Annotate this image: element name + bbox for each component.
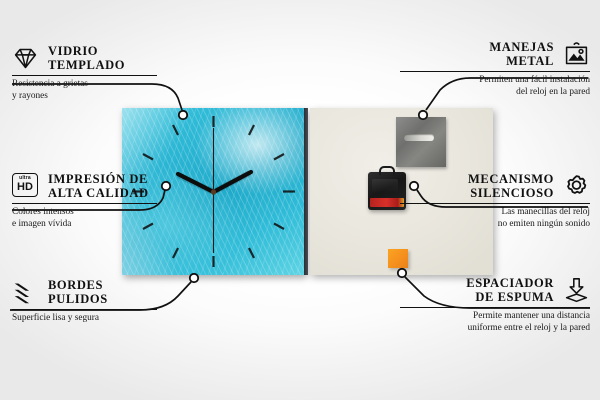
feature-desc-line1: Superficie lisa y segura	[12, 313, 222, 324]
feature-desc-line2: e imagen vívida	[12, 219, 222, 230]
wall-frame-hook-icon	[563, 41, 590, 68]
hd-main-label: HD	[17, 182, 33, 193]
feature-title: VIDRIO TEMPLADO	[48, 44, 125, 72]
feature-header: MANEJAS METAL	[378, 40, 590, 68]
feature-desc-line1: Colores intensos	[12, 207, 222, 218]
polished-edge-icon	[12, 279, 39, 306]
feature-header: BORDES PULIDOS	[12, 278, 222, 306]
feature-espaciador-espuma: ESPACIADOR DE ESPUMA Permite mantener un…	[378, 276, 590, 334]
feature-title: BORDES PULIDOS	[48, 278, 108, 306]
feature-divider	[12, 309, 157, 310]
feature-desc-line1: Permiten una fácil instalación	[378, 75, 590, 86]
feature-bordes-pulidos: BORDES PULIDOS Superficie lisa y segura	[12, 278, 222, 325]
metal-hanger-plate	[396, 117, 446, 167]
feature-title: MANEJAS METAL	[489, 40, 554, 68]
feature-title: ESPACIADOR DE ESPUMA	[466, 276, 554, 304]
feature-desc-line1: Resistencia a grietas	[12, 79, 222, 90]
foam-spacer-pad	[388, 249, 408, 268]
feature-title: IMPRESIÓN DE ALTA CALIDAD	[48, 172, 149, 200]
feature-divider	[12, 203, 157, 204]
feature-divider	[400, 203, 590, 204]
feature-header: ultra HD IMPRESIÓN DE ALTA CALIDAD	[12, 172, 222, 200]
feature-desc-line1: Las manecillas del reloj	[378, 207, 590, 218]
gear-icon	[563, 173, 590, 200]
hanger-slot	[404, 134, 434, 141]
feature-divider	[400, 71, 590, 72]
feature-manejas-metal: MANEJAS METAL Permiten una fácil instala…	[378, 40, 590, 98]
feature-divider	[12, 75, 157, 76]
ultra-hd-icon: ultra HD	[12, 173, 39, 200]
foam-spacer-arrow-icon	[563, 277, 590, 304]
feature-vidrio-templado: VIDRIO TEMPLADO Resistencia a grietas y …	[12, 44, 222, 102]
feature-header: MECANISMO SILENCIOSO	[378, 172, 590, 200]
feature-desc-line2: del reloj en la pared	[378, 87, 590, 98]
infographic-canvas: VIDRIO TEMPLADO Resistencia a grietas y …	[0, 0, 600, 400]
feature-header: ESPACIADOR DE ESPUMA	[378, 276, 590, 304]
feature-impresion-alta-calidad: ultra HD IMPRESIÓN DE ALTA CALIDAD Color…	[12, 172, 222, 230]
diamond-icon	[12, 45, 39, 72]
feature-desc-line2: uniforme entre el reloj y la pared	[378, 323, 590, 334]
feature-mecanismo-silencioso: MECANISMO SILENCIOSO Las manecillas del …	[378, 172, 590, 230]
feature-header: VIDRIO TEMPLADO	[12, 44, 222, 72]
feature-desc-line1: Permite mantener una distancia	[378, 311, 590, 322]
feature-title: MECANISMO SILENCIOSO	[468, 172, 554, 200]
feature-desc-line2: y rayones	[12, 91, 222, 102]
feature-desc-line2: no emiten ningún sonido	[378, 219, 590, 230]
feature-divider	[400, 307, 590, 308]
